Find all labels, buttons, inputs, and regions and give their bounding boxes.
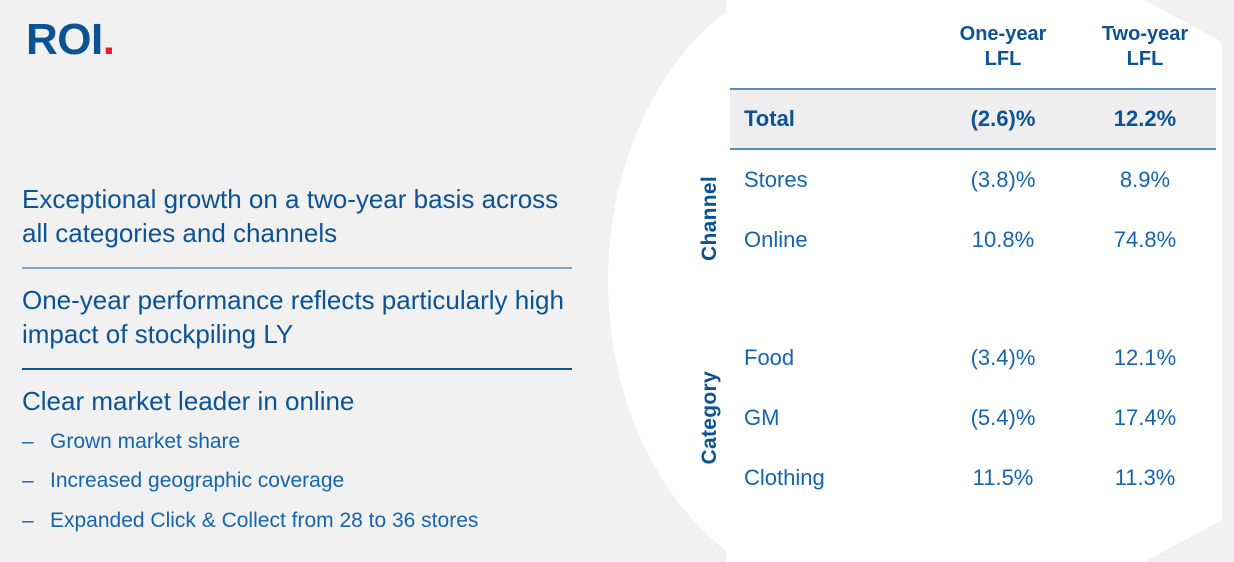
table-body: Total (2.6)% 12.2% Stores (3.8)% 8.9% On… [730, 89, 1216, 508]
table-row-total: Total (2.6)% 12.2% [730, 89, 1216, 149]
dash-icon: – [22, 429, 50, 455]
panel-corner-bottom-right [1144, 520, 1222, 562]
slide-canvas: ROI. Exceptional growth on a two-year ba… [0, 0, 1234, 562]
column-header-one-year: One-year LFL [932, 22, 1074, 89]
right-gray-strip [1222, 0, 1234, 562]
row-label: Food [730, 328, 932, 388]
logo-text: ROI [26, 15, 103, 64]
cell-one-year: (3.4)% [932, 328, 1074, 388]
cell-two-year: 17.4% [1074, 388, 1216, 448]
lfl-table: One-year LFL Two-year LFL Total (2.6)% 1… [730, 22, 1216, 508]
cell-two-year: 12.2% [1074, 89, 1216, 149]
lead-statement-2: One-year performance reflects particular… [22, 283, 574, 352]
group-label-channel: Channel [698, 176, 722, 261]
lead-statement-1: Exceptional growth on a two-year basis a… [22, 182, 574, 251]
lfl-table-container: One-year LFL Two-year LFL Total (2.6)% 1… [730, 22, 1216, 508]
bullet-list: – Grown market share – Increased geograp… [22, 429, 574, 534]
group-label-category: Category [698, 371, 722, 464]
list-item: – Expanded Click & Collect from 28 to 36… [22, 508, 574, 534]
cell-one-year: 10.8% [932, 210, 1074, 270]
row-label: GM [730, 388, 932, 448]
divider-dark [22, 368, 572, 370]
row-label: Clothing [730, 448, 932, 508]
table-row: Online 10.8% 74.8% [730, 210, 1216, 270]
list-item: – Grown market share [22, 429, 574, 455]
cell-two-year: 12.1% [1074, 328, 1216, 388]
cell-two-year: 8.9% [1074, 149, 1216, 210]
table-row: Food (3.4)% 12.1% [730, 328, 1216, 388]
row-label: Total [730, 89, 932, 149]
table-row: Clothing 11.5% 11.3% [730, 448, 1216, 508]
cell-two-year: 11.3% [1074, 448, 1216, 508]
list-item-label: Grown market share [50, 429, 240, 455]
row-label: Stores [730, 149, 932, 210]
cell-one-year: (3.8)% [932, 149, 1074, 210]
table-row: GM (5.4)% 17.4% [730, 388, 1216, 448]
left-text-column: Exceptional growth on a two-year basis a… [22, 182, 574, 547]
column-header-two-year: Two-year LFL [1074, 22, 1216, 89]
dash-icon: – [22, 468, 50, 494]
table-head: One-year LFL Two-year LFL [730, 22, 1216, 89]
row-label: Online [730, 210, 932, 270]
brand-logo: ROI. [26, 18, 114, 62]
dash-icon: – [22, 508, 50, 534]
cell-one-year: (2.6)% [932, 89, 1074, 149]
cell-one-year: 11.5% [932, 448, 1074, 508]
list-item-label: Increased geographic coverage [50, 468, 344, 494]
list-item-label: Expanded Click & Collect from 28 to 36 s… [50, 508, 478, 534]
cell-two-year: 74.8% [1074, 210, 1216, 270]
table-row: Stores (3.8)% 8.9% [730, 149, 1216, 210]
divider-light [22, 267, 572, 269]
table-group-spacer [730, 270, 1216, 328]
table-header-row: One-year LFL Two-year LFL [730, 22, 1216, 89]
column-header-blank [730, 22, 932, 89]
cell-one-year: (5.4)% [932, 388, 1074, 448]
lead-statement-3: Clear market leader in online [22, 384, 574, 418]
list-item: – Increased geographic coverage [22, 468, 574, 494]
logo-dot: . [103, 15, 115, 64]
